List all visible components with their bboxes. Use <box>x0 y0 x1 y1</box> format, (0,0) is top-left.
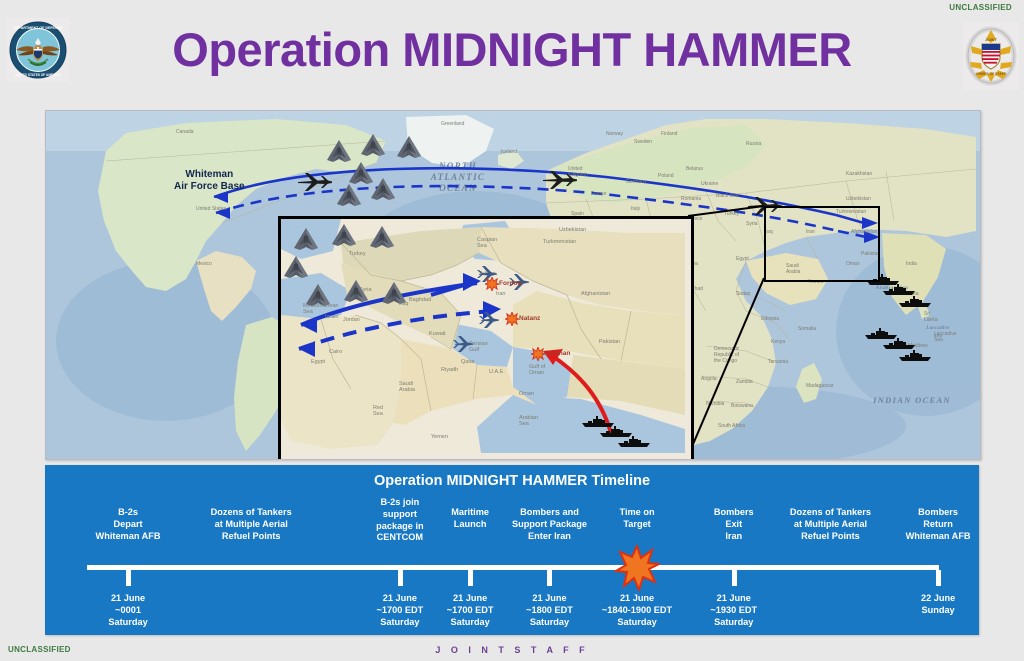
time-on-target-burst-icon <box>614 545 660 591</box>
timeline-tick <box>398 570 403 586</box>
b2-bomber-icon <box>358 133 388 159</box>
naval-ship-icon <box>882 337 916 349</box>
b2-bomber-icon <box>394 135 424 161</box>
b2-bomber-icon <box>291 227 321 253</box>
classification-banner-top: UNCLASSIFIED <box>949 3 1012 12</box>
page-title: Operation MIDNIGHT HAMMER <box>0 22 1024 77</box>
inset-map-graphic <box>281 219 685 453</box>
naval-ship-icon <box>898 295 932 307</box>
timeline-title: Operation MIDNIGHT HAMMER Timeline <box>45 473 979 489</box>
fighter-jet-icon <box>453 335 475 353</box>
timeline-event-label: Dozens of Tankersat Multiple AerialRefue… <box>188 507 314 542</box>
timeline-panel: Operation MIDNIGHT HAMMER Timeline B-2sD… <box>45 465 979 635</box>
svg-text:INDIAN OCEAN: INDIAN OCEAN <box>872 395 951 405</box>
target-burst-icon <box>485 277 499 291</box>
timeline-event-label: B-2sDepartWhiteman AFB <box>65 507 191 542</box>
svg-text:ATLANTIC: ATLANTIC <box>430 172 485 182</box>
target-label: Natanz <box>519 315 540 322</box>
middle-east-inset-map: TurkeySyriaIraqIranAfghanistanPakistanTu… <box>278 216 694 460</box>
fighter-jet-icon <box>479 311 501 329</box>
b2-bomber-icon <box>329 223 359 249</box>
target-label: Fordow <box>499 280 522 287</box>
target-label: Esfahan <box>545 350 570 357</box>
b2-bomber-icon <box>367 225 397 251</box>
svg-text:Sea: Sea <box>934 334 943 339</box>
timeline-event-label: BombersReturnWhiteman AFB <box>875 507 1001 542</box>
target-burst-icon <box>531 347 545 361</box>
b2-bomber-icon <box>379 281 409 307</box>
b2-bomber-icon <box>341 279 371 305</box>
timeline-tick <box>547 570 552 586</box>
naval-ship-icon <box>898 349 932 361</box>
timeline-event-time: 22 JuneSunday <box>879 592 997 616</box>
whiteman-afb-label-line: Air Force Base <box>174 181 245 193</box>
naval-ship-icon <box>882 283 916 295</box>
timeline-axis <box>87 565 939 570</box>
tanker-aircraft-icon <box>541 169 581 191</box>
b2-bomber-icon <box>303 283 333 309</box>
naval-ship-icon <box>617 435 651 447</box>
timeline-tick <box>126 570 131 586</box>
svg-text:Laccadive: Laccadive <box>925 326 950 331</box>
timeline-tick <box>468 570 473 586</box>
b2-bomber-icon <box>281 255 311 281</box>
whiteman-afb-label: WhitemanAir Force Base <box>174 169 245 193</box>
timeline-event-time: 21 June~1930 EDTSaturday <box>675 592 793 628</box>
inset-source-rectangle <box>764 206 880 282</box>
b2-bomber-icon <box>346 161 376 187</box>
timeline-tick <box>936 570 941 586</box>
timeline-tick <box>732 570 737 586</box>
whiteman-afb-label-line: Whiteman <box>174 169 245 181</box>
svg-text:OCEAN: OCEAN <box>439 183 477 193</box>
target-burst-icon <box>505 312 519 326</box>
joint-staff-footer: J O I N T S T A F F <box>0 645 1024 655</box>
tanker-aircraft-icon <box>296 171 336 193</box>
timeline-event-time: 21 June~0001Saturday <box>69 592 187 628</box>
operation-map-panel: NORTH ATLANTIC OCEAN INDIAN OCEAN Arabia… <box>45 110 981 460</box>
